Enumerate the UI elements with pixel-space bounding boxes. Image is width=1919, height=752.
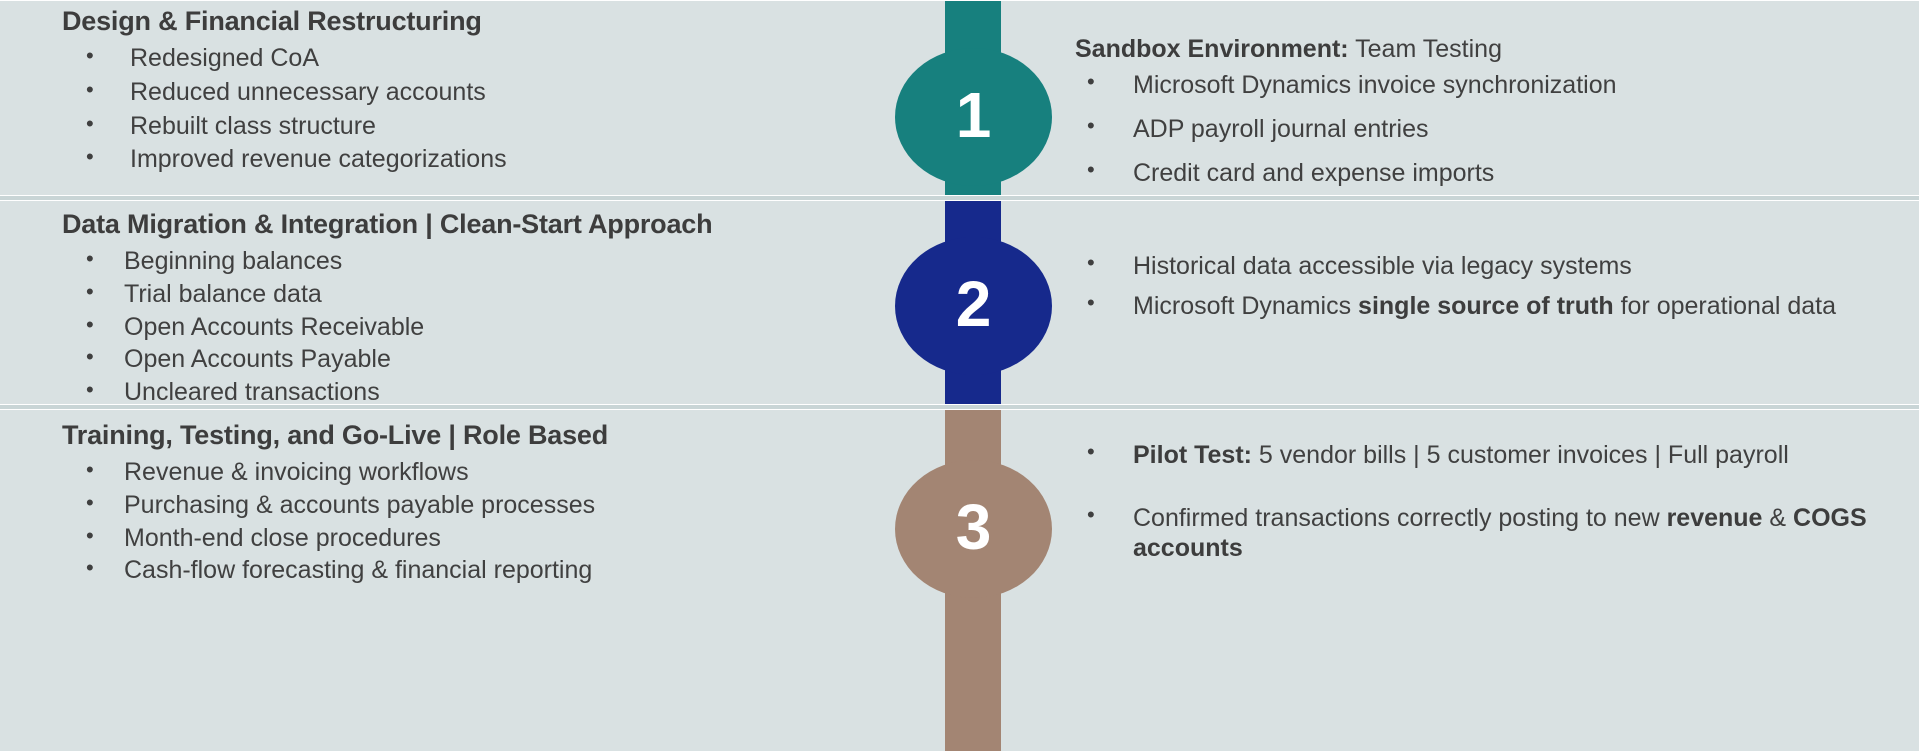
list-item: Reduced unnecessary accounts xyxy=(62,78,886,107)
list-item: Open Accounts Receivable xyxy=(62,313,886,342)
bullet-text: Historical data accessible via legacy sy… xyxy=(1133,252,1632,280)
list-item: Beginning balances xyxy=(62,247,886,276)
list-item: ADP payroll journal entries xyxy=(1075,114,1909,144)
timeline-step-row-1: Design & Financial Restructuring Redesig… xyxy=(0,0,1919,196)
step-1-lead-bold: Sandbox Environment: xyxy=(1075,35,1349,63)
bullet-text: for operational data xyxy=(1614,292,1836,320)
list-item: Pilot Test: 5 vendor bills | 5 customer … xyxy=(1075,440,1909,471)
list-item: Microsoft Dynamics invoice synchronizati… xyxy=(1075,70,1909,100)
bullet-text: Credit card and expense imports xyxy=(1133,159,1494,187)
step-marker-3: 3 xyxy=(895,460,1052,598)
step-2-left-column: Data Migration & Integration | Clean-Sta… xyxy=(0,201,900,411)
step-2-right-bullet-list: Historical data accessible via legacy sy… xyxy=(1075,251,1909,321)
step-1-lead-line: Sandbox Environment: Team Testing xyxy=(1075,34,1909,64)
step-number-label: 1 xyxy=(956,83,992,147)
step-2-left-bullet-list: Beginning balances Trial balance data Op… xyxy=(62,247,886,407)
list-item: Rebuilt class structure xyxy=(62,112,886,141)
step-3-right-column: Pilot Test: 5 vendor bills | 5 customer … xyxy=(1075,410,1919,596)
step-1-lead-rest: Team Testing xyxy=(1349,35,1502,63)
timeline-step-row-3: Training, Testing, and Go-Live | Role Ba… xyxy=(0,409,1919,752)
bullet-text: Microsoft Dynamics invoice synchronizati… xyxy=(1133,71,1617,99)
list-item: Improved revenue categorizations xyxy=(62,145,886,174)
step-marker-2: 2 xyxy=(895,237,1052,375)
bullet-text: & xyxy=(1762,504,1793,532)
step-number-label: 2 xyxy=(956,272,992,336)
step-1-right-bullet-list: Microsoft Dynamics invoice synchronizati… xyxy=(1075,70,1909,188)
step-2-title: Data Migration & Integration | Clean-Sta… xyxy=(62,209,886,241)
bullet-text: Microsoft Dynamics xyxy=(1133,292,1358,320)
bullet-text: Confirmed transactions correctly posting… xyxy=(1133,504,1667,532)
step-number-label: 3 xyxy=(956,495,992,559)
step-3-right-bullet-list: Pilot Test: 5 vendor bills | 5 customer … xyxy=(1075,440,1909,564)
list-item: Trial balance data xyxy=(62,280,886,309)
timeline-diagram: Design & Financial Restructuring Redesig… xyxy=(0,0,1919,752)
step-3-title: Training, Testing, and Go-Live | Role Ba… xyxy=(62,420,886,452)
bullet-text-bold: single source of truth xyxy=(1358,292,1614,320)
list-item: Revenue & invoicing workflows xyxy=(62,458,886,487)
list-item: Purchasing & accounts payable processes xyxy=(62,491,886,520)
step-marker-1: 1 xyxy=(895,48,1052,186)
list-item: Credit card and expense imports xyxy=(1075,158,1909,188)
bullet-text: 5 vendor bills | 5 customer invoices | F… xyxy=(1252,441,1789,469)
bullet-text: ADP payroll journal entries xyxy=(1133,115,1429,143)
step-1-right-column: Sandbox Environment: Team Testing Micros… xyxy=(1075,1,1919,202)
list-item: Open Accounts Payable xyxy=(62,345,886,374)
timeline-step-row-2: Data Migration & Integration | Clean-Sta… xyxy=(0,200,1919,405)
list-item: Microsoft Dynamics single source of trut… xyxy=(1075,291,1909,321)
step-1-left-column: Design & Financial Restructuring Redesig… xyxy=(0,1,900,179)
list-item: Cash-flow forecasting & financial report… xyxy=(62,556,886,585)
list-item: Confirmed transactions correctly posting… xyxy=(1075,503,1909,564)
list-item: Uncleared transactions xyxy=(62,378,886,407)
step-3-left-bullet-list: Revenue & invoicing workflows Purchasing… xyxy=(62,458,886,586)
bullet-text-bold: revenue xyxy=(1667,504,1763,532)
step-1-left-bullet-list: Redesigned CoA Reduced unnecessary accou… xyxy=(62,44,886,175)
list-item: Historical data accessible via legacy sy… xyxy=(1075,251,1909,281)
step-2-right-column: Historical data accessible via legacy sy… xyxy=(1075,201,1919,331)
list-item: Month-end close procedures xyxy=(62,524,886,553)
step-3-left-column: Training, Testing, and Go-Live | Role Ba… xyxy=(0,410,900,589)
list-item: Redesigned CoA xyxy=(62,44,886,73)
step-1-title: Design & Financial Restructuring xyxy=(62,6,886,38)
bullet-text-bold: Pilot Test: xyxy=(1133,441,1252,469)
